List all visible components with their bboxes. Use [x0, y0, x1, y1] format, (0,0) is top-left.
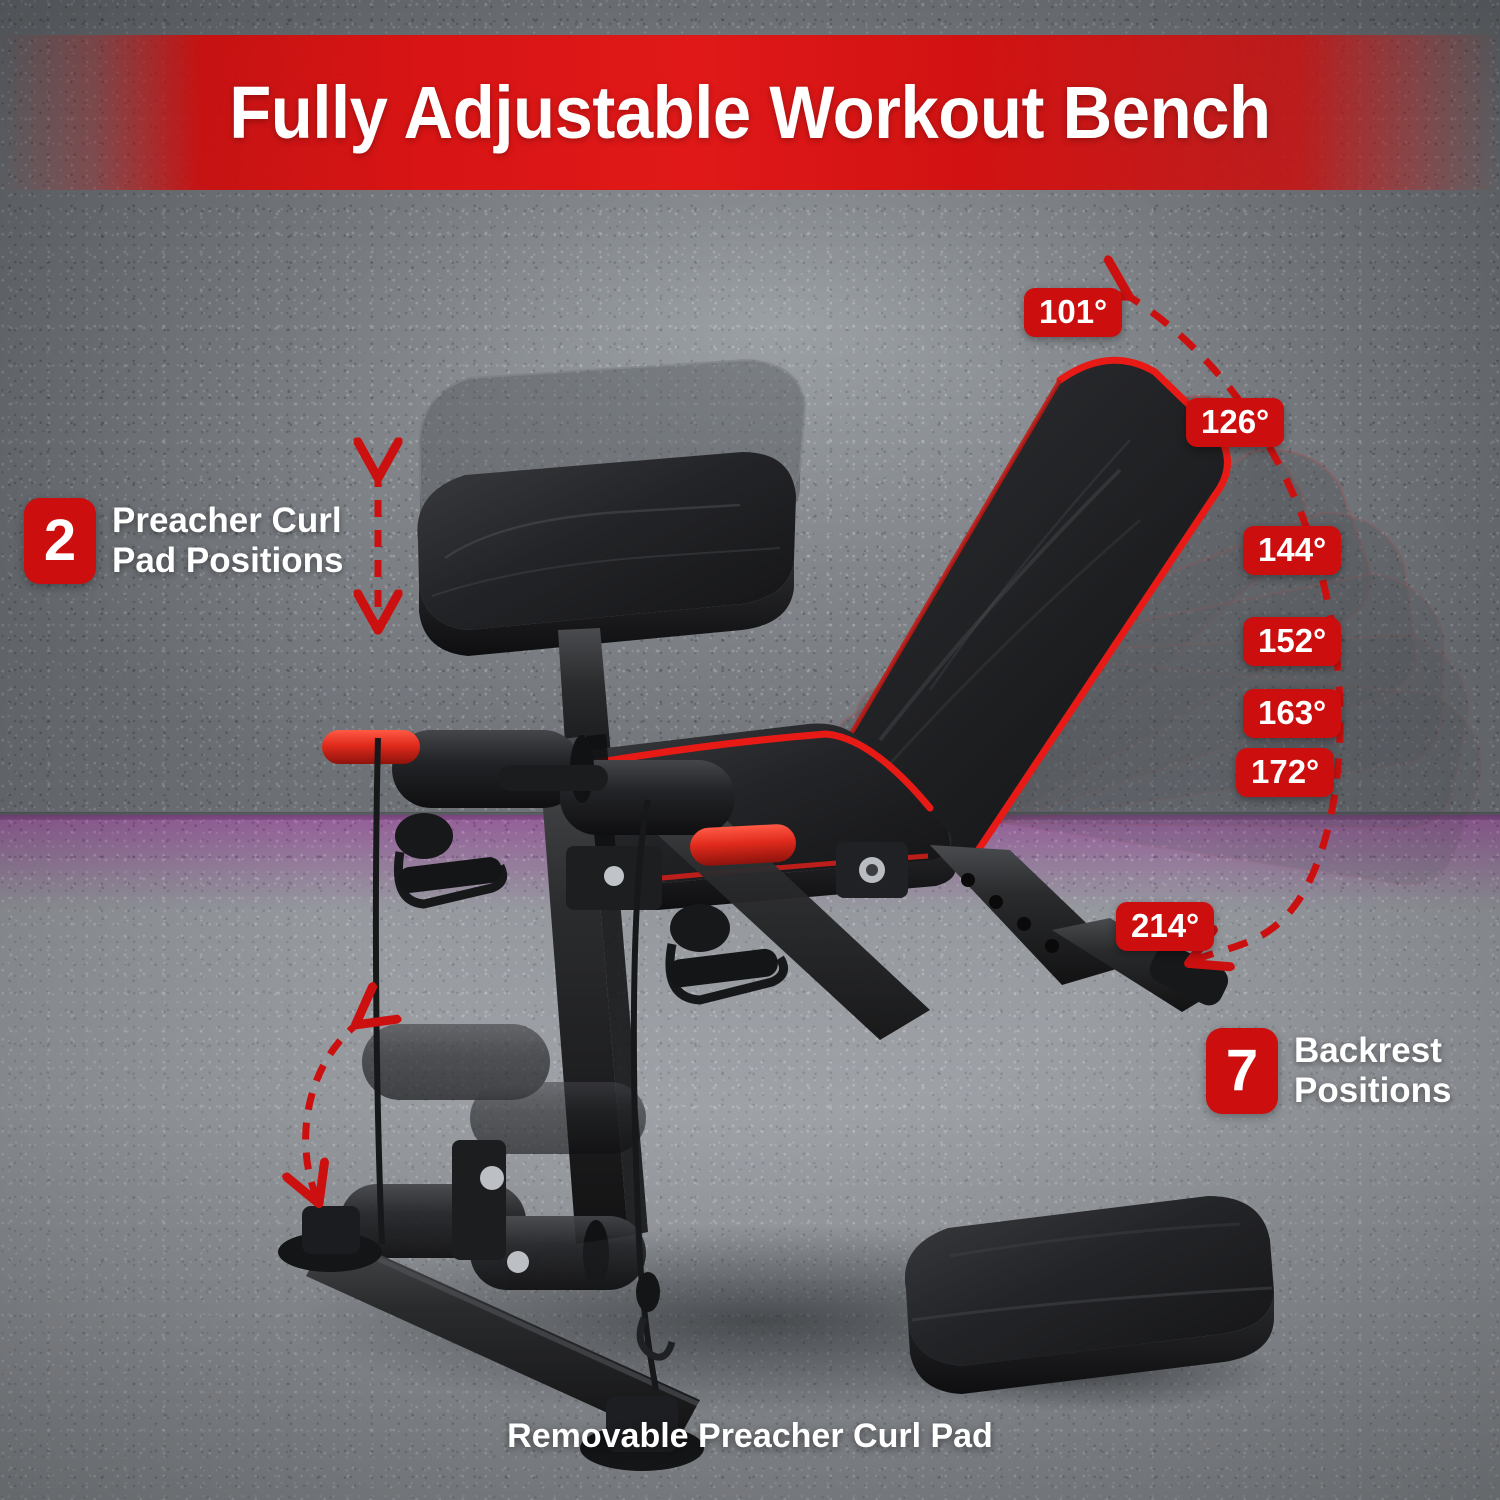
roller-pivot-bracket: [452, 1140, 506, 1260]
angle-label-172: 172°: [1236, 748, 1334, 797]
feature-callout-preacher-curl: 2 Preacher Curl Pad Positions: [24, 498, 343, 584]
red-grip-handle-right: [689, 823, 797, 866]
bottom-caption-removable-pad: Removable Preacher Curl Pad: [0, 1417, 1500, 1456]
feature-count-badge-backrest: 7: [1206, 1028, 1278, 1114]
angle-label-126: 126°: [1186, 398, 1284, 447]
angle-label-144: 144°: [1243, 526, 1341, 575]
feature-callout-backrest: 7 Backrest Positions: [1206, 1028, 1452, 1114]
seat-bracket-bolt: [604, 866, 624, 886]
roller-pivot-bolt: [480, 1166, 504, 1190]
title-banner: Fully Adjustable Workout Bench: [0, 35, 1500, 190]
leg-roller-axle: [498, 765, 608, 791]
angle-label-214: 214°: [1116, 902, 1214, 951]
page-title: Fully Adjustable Workout Bench: [229, 70, 1270, 155]
angle-label-163: 163°: [1243, 689, 1341, 738]
feature-count-badge-preacher: 2: [24, 498, 96, 584]
feature-label-backrest: Backrest Positions: [1294, 1031, 1452, 1110]
adjustment-ladder: [930, 845, 1130, 985]
angle-label-152: 152°: [1243, 617, 1341, 666]
resistance-band-handle-left: [395, 813, 503, 904]
roller-pivot-bolt-2: [507, 1251, 529, 1273]
feature-label-preacher: Preacher Curl Pad Positions: [112, 501, 343, 580]
resistance-band-left: [376, 738, 382, 1244]
angle-label-101: 101°: [1024, 288, 1122, 337]
red-grip-handle-left: [322, 730, 420, 764]
